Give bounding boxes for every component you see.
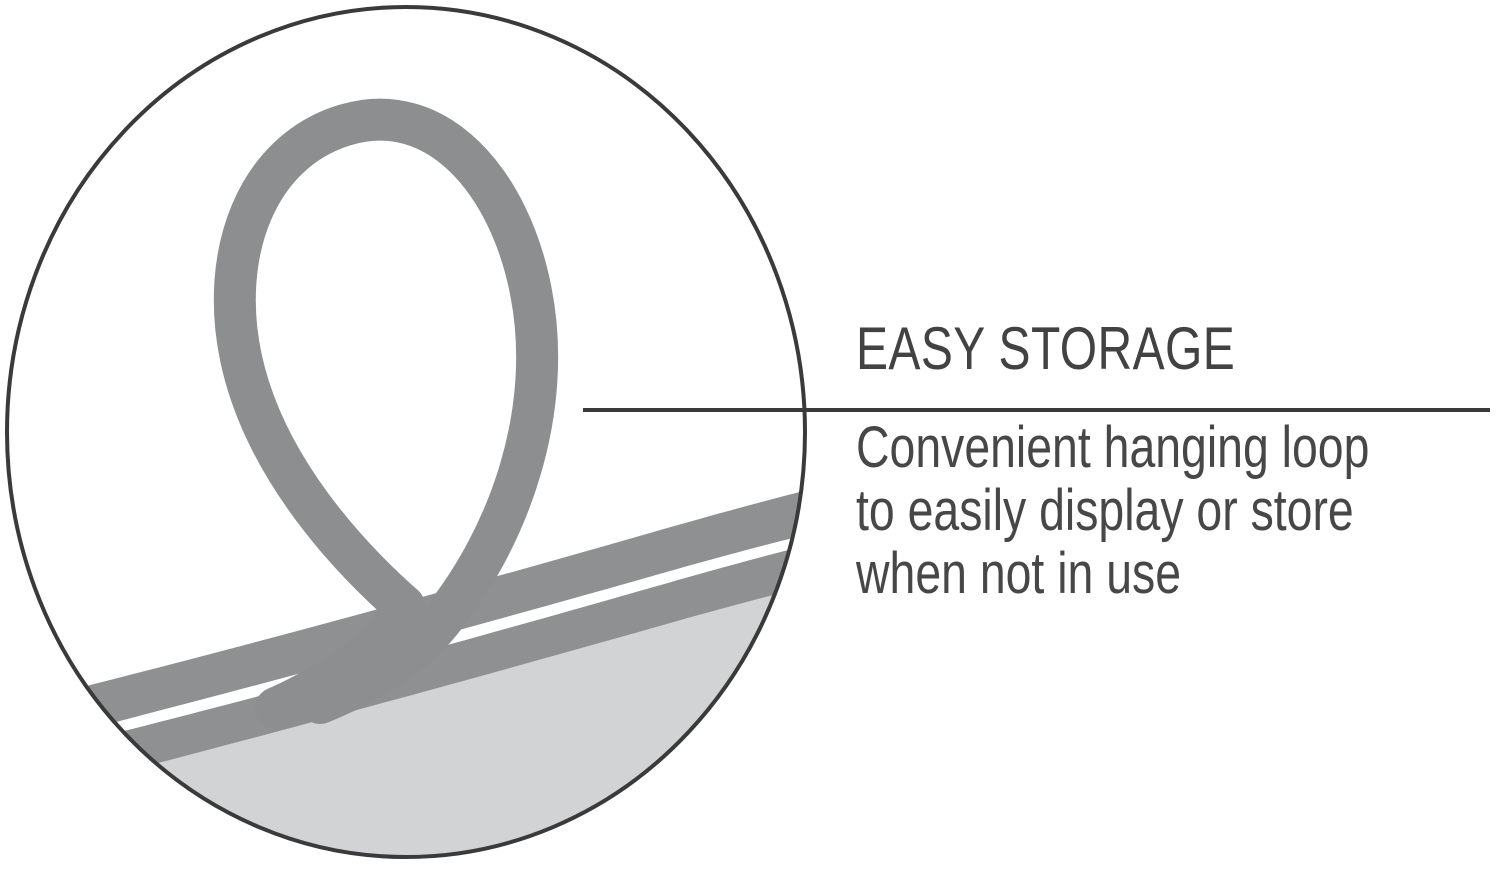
- callout-body: Convenient hanging loop to easily displa…: [856, 416, 1496, 605]
- callout-body-line-1: Convenient hanging loop: [856, 416, 1368, 479]
- feature-callout-graphic: EASY STORAGE Convenient hanging loop to …: [0, 0, 1500, 872]
- callout-body-line-3: when not in use: [856, 542, 1368, 605]
- callout-text-panel: EASY STORAGE Convenient hanging loop to …: [856, 318, 1496, 605]
- callout-body-line-2: to easily display or store: [856, 479, 1368, 542]
- callout-heading: EASY STORAGE: [856, 318, 1368, 380]
